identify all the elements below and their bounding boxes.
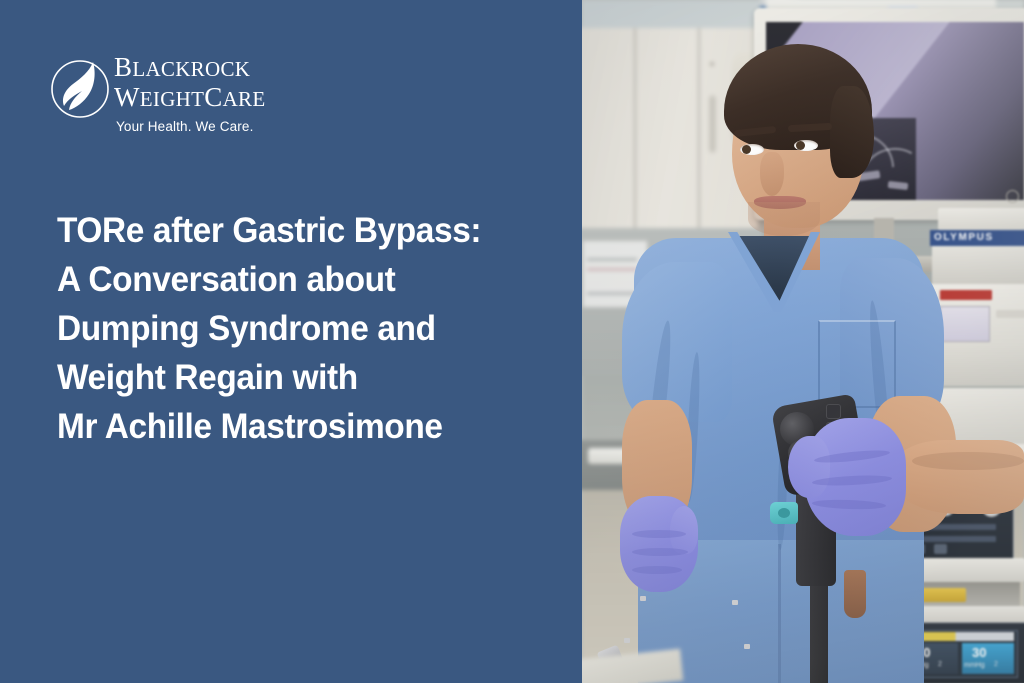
title-line-2: A Conversation about: [57, 255, 544, 304]
left-blue-panel: BLACKROCK WEIGHTCARE Your Health. We Car…: [0, 0, 582, 683]
endoscope-valve-port: [778, 508, 790, 518]
brand-wordmark: BLACKROCK WEIGHTCARE Your Health. We Car…: [114, 52, 344, 134]
scrub-shoulder-left: [622, 262, 732, 422]
brand-rest-lackrock: LACKROCK: [132, 57, 250, 81]
cabinet-handle: [710, 96, 715, 152]
olympus-brand-label: OLYMPUS: [934, 232, 1024, 243]
control-button[interactable]: [934, 544, 947, 554]
pupil: [796, 141, 805, 150]
tower-warning-strip: [940, 290, 992, 300]
insufflator-right-value: 30: [972, 645, 986, 660]
clinician-photo: OLYMPUS: [582, 0, 1024, 683]
brand-rest-are: ARE: [223, 87, 266, 111]
glove-thumb-right: [788, 436, 830, 498]
tube-marking: [744, 644, 750, 649]
cabinet-screw: [710, 62, 714, 66]
glove-finger-crease: [632, 566, 682, 574]
tube-marking: [640, 596, 646, 601]
brand-initial-b: B: [114, 52, 132, 82]
chin-shadow: [748, 202, 820, 236]
tower-unit-button: [996, 310, 1024, 318]
wall-notice-line: [587, 258, 637, 261]
forearm-right-lower: [892, 440, 1024, 514]
monitor-power-icon: [1006, 190, 1019, 203]
tube-marking: [732, 600, 738, 605]
brand-initial-w: W: [114, 82, 140, 112]
title-line-3: Dumping Syndrome and: [57, 304, 544, 353]
insufflator-right-field: [962, 643, 1014, 674]
glove-finger-crease: [632, 530, 686, 538]
wall-notice-line: [587, 292, 637, 295]
hair-side: [830, 86, 874, 178]
title-line-5: Mr Achille Mastrosimone: [57, 402, 544, 451]
cabinet-seam: [634, 28, 636, 230]
glove-finger-crease: [632, 548, 688, 556]
title-line-4: Weight Regain with: [57, 353, 544, 402]
brand-tagline: Your Health. We Care.: [116, 119, 344, 134]
trouser-pocket-patch: [844, 570, 866, 618]
brand-rest-eight: EIGHT: [140, 87, 204, 111]
brand-name-line-2: WEIGHTCARE: [114, 84, 344, 111]
insufflator-left-secondary: 2: [938, 661, 942, 668]
tower-top-panel: [938, 208, 1024, 230]
tube-marking: [624, 638, 630, 643]
chest-pocket: [818, 320, 896, 408]
title-line-1: TORe after Gastric Bypass:: [57, 206, 544, 255]
brand-name-line-1: BLACKROCK: [114, 54, 344, 81]
banner-canvas: BLACKROCK WEIGHTCARE Your Health. We Car…: [0, 0, 1024, 683]
endoscope-suction-button[interactable]: [826, 404, 841, 419]
insufflator-right-unit: mmHg: [964, 662, 985, 669]
forearm-shadow: [912, 452, 1024, 470]
tower-unit-display: [940, 306, 990, 342]
wall-notice-line: [587, 268, 637, 271]
leaf-in-circle-icon: [48, 56, 112, 120]
insufflator-right-secondary: 2: [994, 661, 998, 668]
tower-body: [932, 246, 1024, 284]
cabinet-seam: [698, 28, 700, 230]
brand-logo: BLACKROCK WEIGHTCARE Your Health. We Car…: [48, 52, 348, 136]
pupil: [742, 145, 751, 154]
nose: [760, 152, 784, 196]
page-title: TORe after Gastric Bypass: A Conversatio…: [57, 206, 567, 451]
brand-initial-c: C: [204, 82, 222, 112]
